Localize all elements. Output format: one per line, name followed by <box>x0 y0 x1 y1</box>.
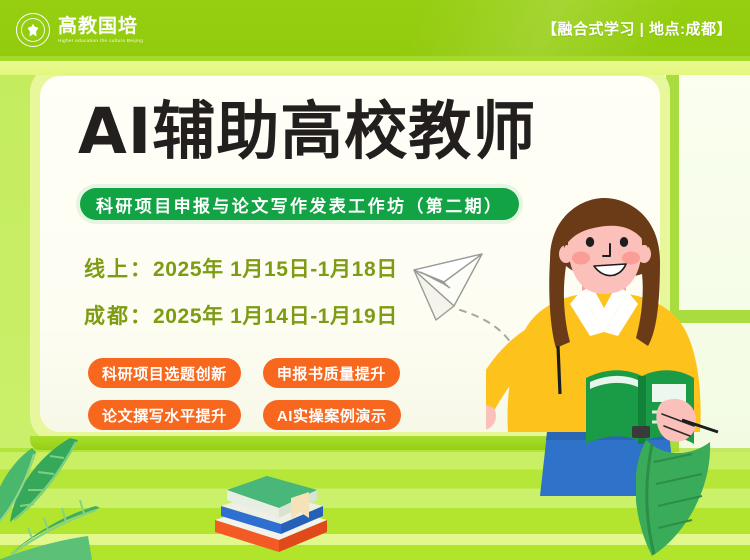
subtitle-banner: 科研项目申报与论文写作发表工作坊（第二期） <box>80 188 519 220</box>
date-line-chengdu: 成都：2025年 1月14日-1月19日 <box>84 300 398 330</box>
subtitle-text: 科研项目申报与论文写作发表工作坊（第二期） <box>96 192 503 217</box>
date-line-online: 线上：2025年 1月15日-1月18日 <box>84 253 398 283</box>
poster: 高教国培 Higher education the culture Beijin… <box>0 0 750 560</box>
feature-tag-1[interactable]: 科研项目选题创新 <box>88 358 241 388</box>
date-value-online: 2025年 1月15日-1月18日 <box>153 258 398 281</box>
palm-leaf-illustration <box>636 440 750 560</box>
feature-tag-4[interactable]: AI实操案例演示 <box>263 400 401 430</box>
stacked-books-illustration <box>205 458 335 558</box>
feature-tag-list: 科研项目选题创新 申报书质量提升 论文撰写水平提升 AI实操案例演示 <box>88 358 468 430</box>
header-location-tag-overlay: 【融合式学习 | 地点:成都】 <box>542 18 732 39</box>
brand-logo-overlay: 高教国培 Higher education the culture Beijin… <box>16 14 143 46</box>
date-label-online: 线上： <box>84 258 153 281</box>
date-value-chengdu: 2025年 1月14日-1月19日 <box>153 305 398 328</box>
emblem-icon <box>16 13 50 47</box>
brand-name-cn: 高教国培 <box>58 17 143 37</box>
ceiling-light-strip <box>0 61 750 75</box>
feature-tag-3[interactable]: 论文撰写水平提升 <box>88 400 241 430</box>
brand-logo-text: 高教国培 Higher education the culture Beijin… <box>58 17 143 44</box>
emblem-icon-glyph <box>28 24 39 37</box>
palm-leaves-illustration <box>0 436 122 560</box>
brand-name-en: Higher education the culture Beijing <box>58 37 143 44</box>
date-label-chengdu: 成都： <box>84 305 153 328</box>
page-title: AI辅助高校教师 <box>78 96 658 168</box>
feature-tag-2[interactable]: 申报书质量提升 <box>263 358 400 388</box>
